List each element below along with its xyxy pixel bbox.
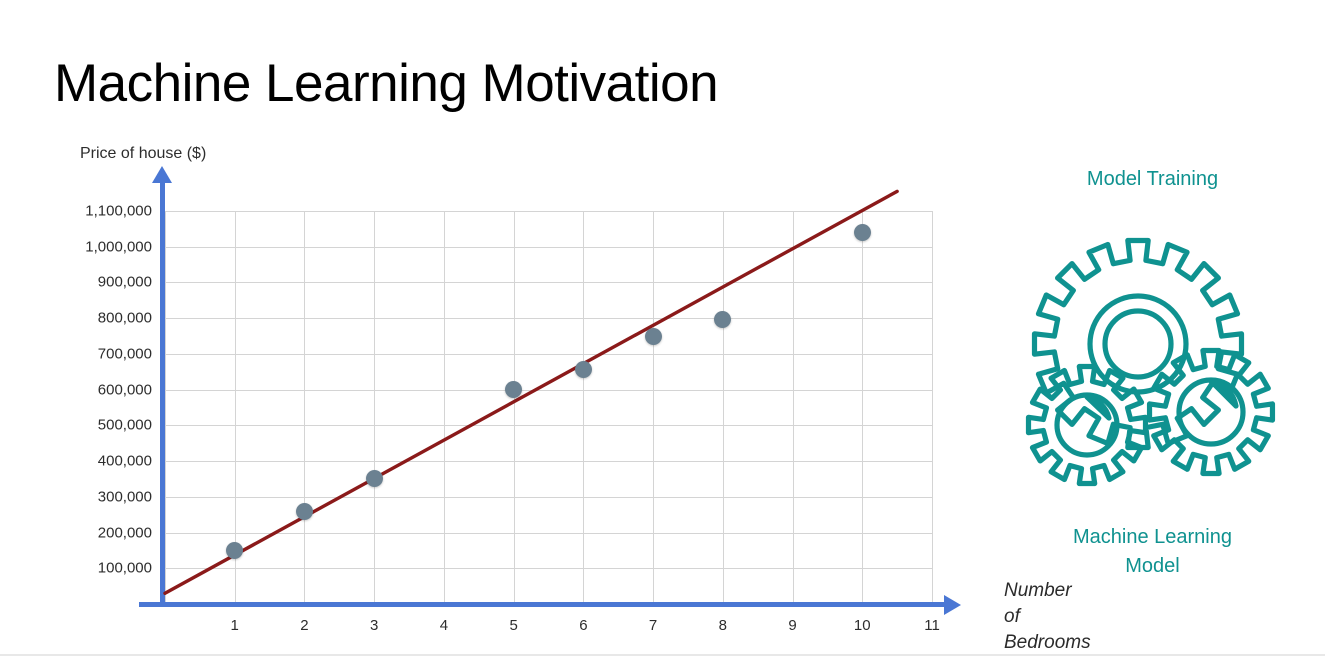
data-points-layer	[0, 0, 980, 656]
data-point	[366, 470, 383, 487]
model-training-panel: Model Training Machine Learning Model	[980, 0, 1325, 656]
model-training-label: Model Training	[980, 168, 1325, 191]
data-point	[226, 542, 243, 559]
data-point	[714, 311, 731, 328]
ml-model-line1: Machine Learning	[980, 523, 1325, 552]
ml-model-line2: Model	[980, 552, 1325, 581]
data-point	[505, 381, 522, 398]
data-point	[575, 361, 592, 378]
data-point	[645, 328, 662, 345]
data-point	[854, 224, 871, 241]
gears-icon	[1025, 232, 1290, 497]
machine-learning-model-label: Machine Learning Model	[980, 523, 1325, 581]
scatter-chart: Price of house ($) 100,000200,000300,000…	[0, 0, 980, 656]
data-point	[296, 503, 313, 520]
